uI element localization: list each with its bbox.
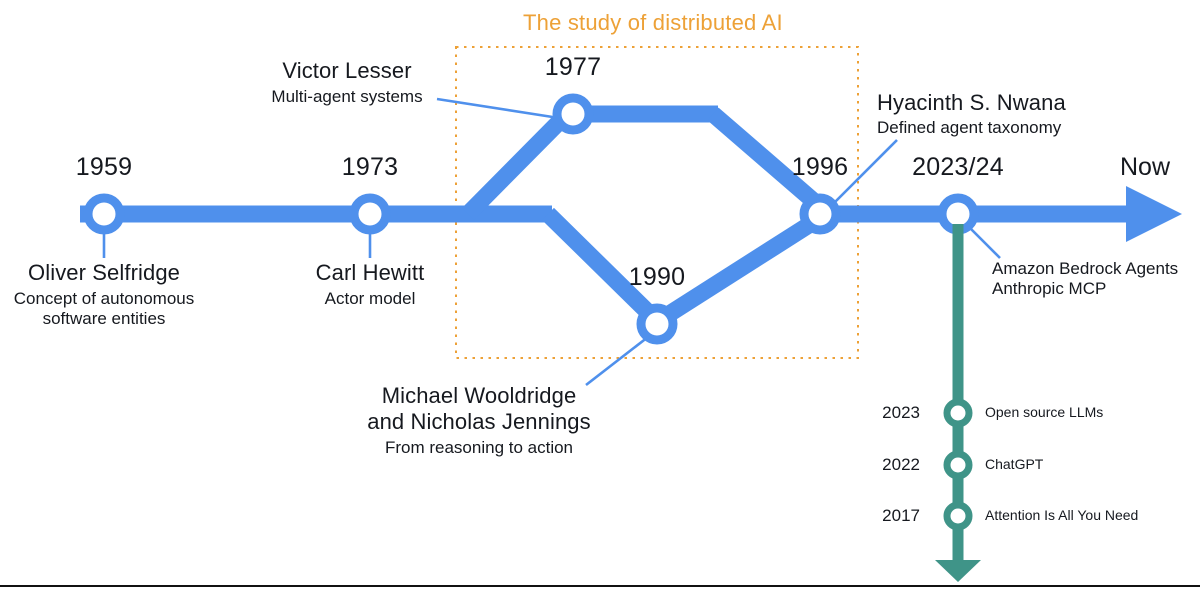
person-desc-2023-line1: Amazon Bedrock Agents xyxy=(992,259,1200,279)
node-1996[interactable] xyxy=(804,198,836,230)
person-name-1973: Carl Hewitt xyxy=(270,260,470,286)
callout-1977: Victor Lesser Multi-agent systems xyxy=(247,58,447,107)
year-label-2023-24: 2023/24 xyxy=(898,153,1018,181)
llm-timeline-arrow-head xyxy=(935,560,981,582)
node-1959[interactable] xyxy=(88,198,120,230)
person-desc-1959-line1: Concept of autonomous xyxy=(4,289,204,309)
person-desc-2023-line2: Anthropic MCP xyxy=(992,279,1200,299)
year-label-1996: 1996 xyxy=(770,153,870,181)
llm-label-2017: Attention Is All You Need xyxy=(985,508,1138,524)
person-name-1996: Hyacinth S. Nwana xyxy=(877,90,1197,116)
llm-node-2017[interactable] xyxy=(947,505,969,527)
callout-1973: Carl Hewitt Actor model xyxy=(270,260,470,309)
callout-2023-24: Amazon Bedrock Agents Anthropic MCP xyxy=(992,259,1200,299)
llm-year-2023: 2023 xyxy=(820,403,920,422)
llm-year-2017: 2017 xyxy=(820,506,920,525)
llm-year-2022: 2022 xyxy=(820,455,920,474)
llm-node-2023[interactable] xyxy=(947,402,969,424)
timeline-branch-up-1977 xyxy=(468,114,567,214)
person-name-1959: Oliver Selfridge xyxy=(4,260,204,286)
llm-label-2022: ChatGPT xyxy=(985,457,1043,473)
callout-1990: Michael Wooldridge and Nicholas Jennings… xyxy=(348,383,610,458)
leader-line-1990 xyxy=(586,337,648,385)
person-desc-1959-line2: software entities xyxy=(4,309,204,329)
callout-1996: Hyacinth S. Nwana Defined agent taxonomy xyxy=(877,90,1197,138)
leader-line-1977 xyxy=(437,99,559,118)
person-name-1990-line2: and Nicholas Jennings xyxy=(348,409,610,435)
person-name-1977: Victor Lesser xyxy=(247,58,447,84)
now-label: Now xyxy=(1095,153,1195,181)
person-desc-1977-line1: Multi-agent systems xyxy=(247,87,447,107)
year-label-1973: 1973 xyxy=(320,153,420,181)
callout-1959: Oliver Selfridge Concept of autonomous s… xyxy=(4,260,204,329)
person-desc-1973-line1: Actor model xyxy=(270,289,470,309)
leader-line-2023-24 xyxy=(968,226,1000,258)
person-name-1990-line1: Michael Wooldridge xyxy=(348,383,610,409)
person-desc-1990-line1: From reasoning to action xyxy=(348,438,610,458)
timeline-diagram: The study of distributed AI 1959 1973 19… xyxy=(0,0,1200,592)
person-desc-1996-line1: Defined agent taxonomy xyxy=(877,118,1197,138)
llm-node-2022[interactable] xyxy=(947,454,969,476)
llm-label-2023: Open source LLMs xyxy=(985,405,1103,421)
section-title: The study of distributed AI xyxy=(523,11,783,36)
node-1977[interactable] xyxy=(557,98,589,130)
year-label-1990: 1990 xyxy=(607,263,707,291)
node-1990[interactable] xyxy=(641,308,673,340)
year-label-1977: 1977 xyxy=(523,53,623,81)
timeline-arrow-head xyxy=(1126,186,1182,242)
node-1973[interactable] xyxy=(354,198,386,230)
year-label-1959: 1959 xyxy=(54,153,154,181)
